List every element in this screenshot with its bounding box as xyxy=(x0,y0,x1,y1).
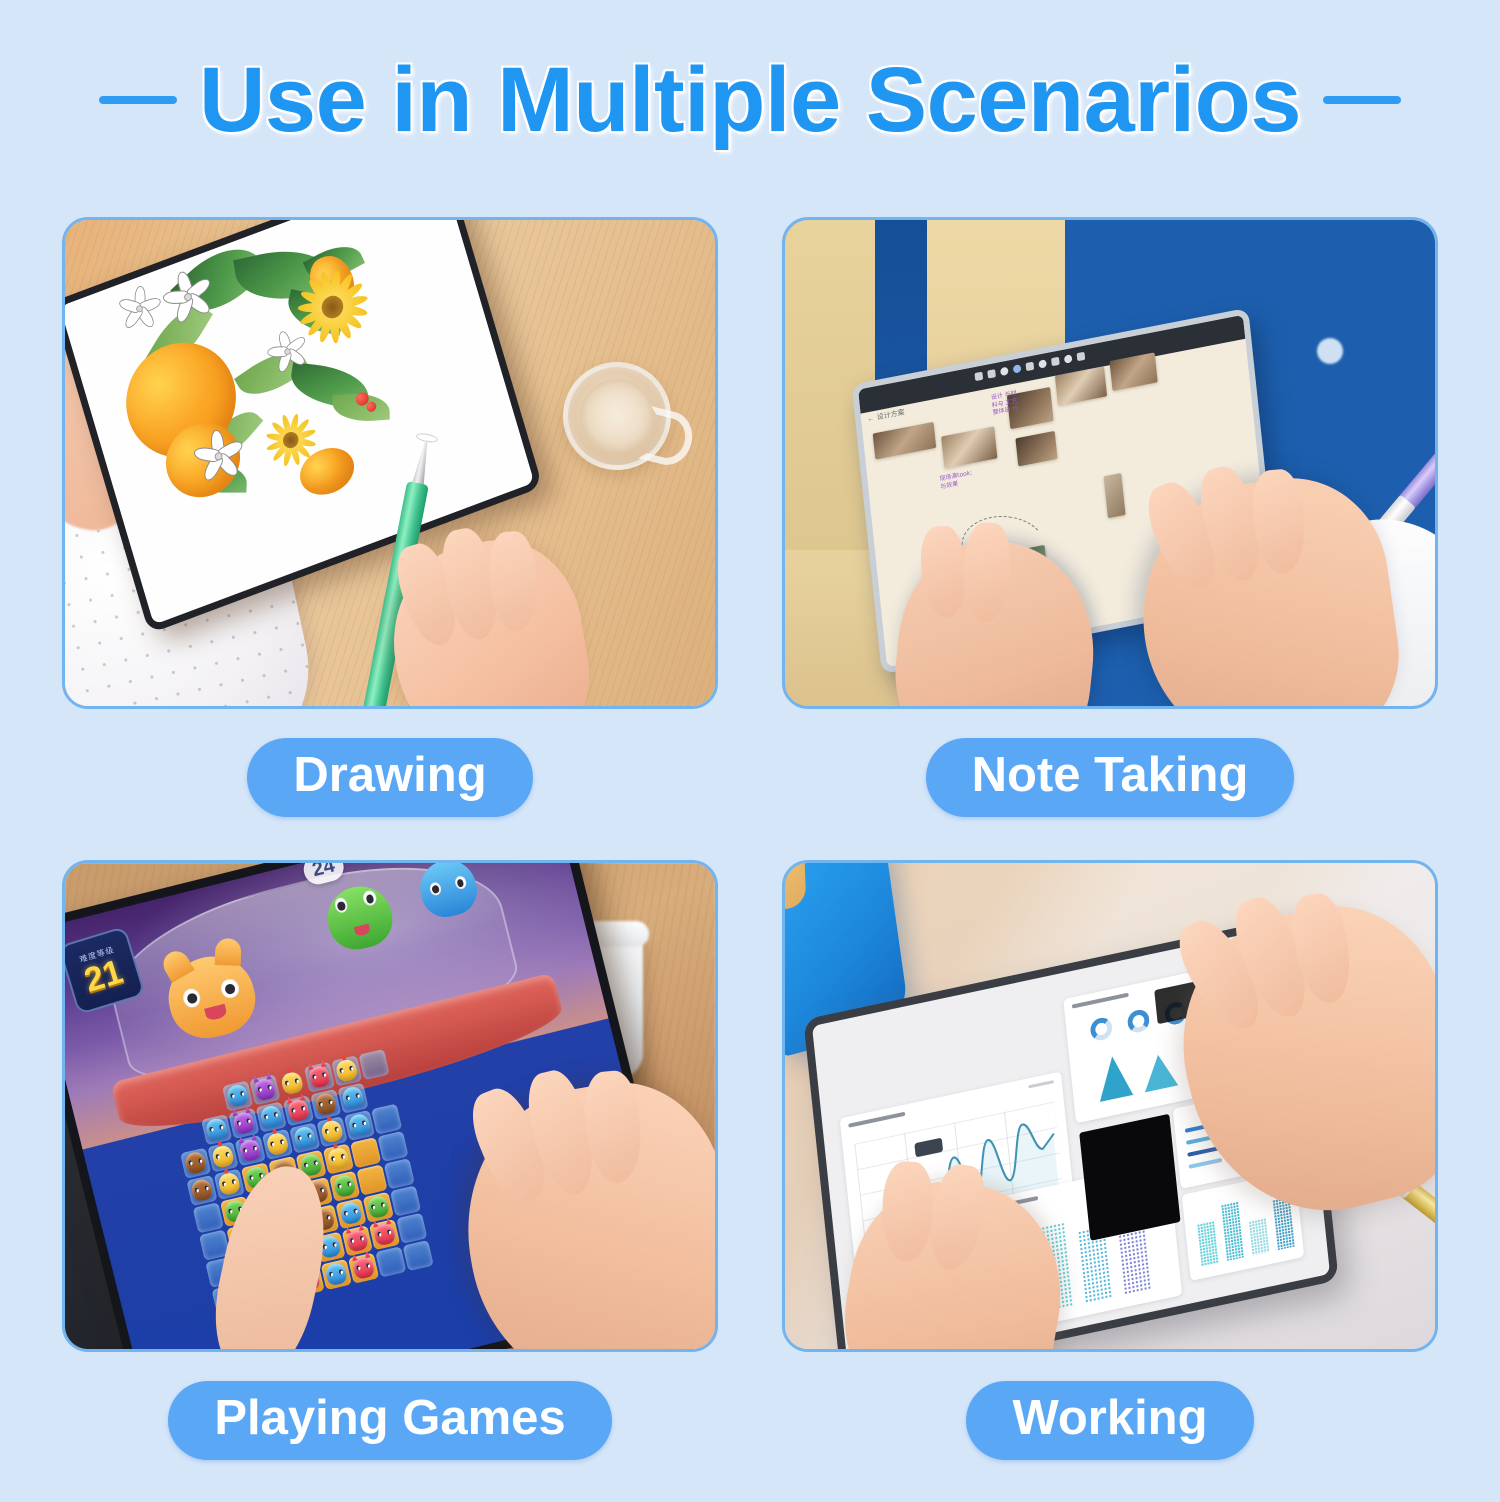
stylus-tip xyxy=(412,439,433,486)
match3-tile[interactable] xyxy=(363,1191,394,1222)
undo-icon[interactable] xyxy=(1064,354,1073,364)
coffee-foam xyxy=(580,379,654,453)
photo-thumbnail[interactable] xyxy=(1015,431,1057,467)
text-tool-icon[interactable] xyxy=(1051,357,1060,367)
chick-piece[interactable] xyxy=(280,1070,305,1095)
cat-piece[interactable] xyxy=(286,1097,311,1122)
match3-tile[interactable] xyxy=(390,1185,421,1216)
scenario-card-drawing: Drawing xyxy=(62,217,718,820)
dotted-bar xyxy=(1221,1201,1244,1261)
chick-piece[interactable] xyxy=(210,1143,235,1168)
match3-tile[interactable] xyxy=(193,1202,224,1233)
match3-tile[interactable] xyxy=(207,1141,238,1172)
pen-tool-icon[interactable] xyxy=(974,372,983,382)
match3-tile[interactable] xyxy=(342,1225,373,1256)
frog-piece[interactable] xyxy=(332,1172,357,1197)
handwritten-annotation: 现场演took;与效果 xyxy=(939,469,973,490)
match3-tile[interactable] xyxy=(371,1103,402,1134)
chick-piece[interactable] xyxy=(326,1145,351,1170)
page-title: Use in Multiple Scenarios xyxy=(199,54,1301,146)
match3-tile[interactable] xyxy=(396,1212,427,1243)
triangle-chart xyxy=(1141,1051,1178,1092)
cat-piece[interactable] xyxy=(307,1063,332,1088)
match3-tile[interactable] xyxy=(222,1080,253,1111)
label-row: Playing Games xyxy=(62,1377,718,1463)
lasso-tool-icon[interactable] xyxy=(1013,364,1022,374)
match3-tile[interactable] xyxy=(344,1110,375,1141)
match3-tile[interactable] xyxy=(403,1240,434,1271)
screen-dark-region xyxy=(1079,1114,1180,1241)
back-arrow-icon[interactable]: ← xyxy=(867,415,875,423)
label-row: Working xyxy=(782,1377,1438,1463)
scenario-label-working[interactable]: Working xyxy=(966,1381,1253,1460)
match3-tile[interactable] xyxy=(310,1089,341,1120)
purple-piece[interactable] xyxy=(231,1110,256,1135)
match3-tile[interactable] xyxy=(317,1116,348,1147)
bear-piece[interactable] xyxy=(183,1149,208,1174)
triangle-chart xyxy=(1096,1053,1134,1102)
chick-piece[interactable] xyxy=(265,1131,290,1156)
dotted-bar xyxy=(1249,1218,1270,1256)
match3-tile[interactable] xyxy=(277,1068,308,1099)
cat-piece[interactable] xyxy=(351,1254,376,1279)
match3-tile[interactable] xyxy=(356,1164,387,1195)
match3-tile[interactable] xyxy=(186,1175,217,1206)
chick-piece[interactable] xyxy=(334,1057,359,1082)
match3-tile[interactable] xyxy=(365,1076,396,1107)
dotted-bar xyxy=(1197,1221,1219,1267)
match3-tile[interactable] xyxy=(359,1049,390,1080)
dash-left-icon xyxy=(99,96,177,104)
horizontal-bar xyxy=(1189,1158,1223,1169)
match3-tile[interactable] xyxy=(323,1143,354,1174)
match3-tile[interactable] xyxy=(369,1219,400,1250)
match3-tile[interactable] xyxy=(180,1147,211,1178)
dash-right-icon xyxy=(1323,96,1401,104)
blue-piece[interactable] xyxy=(292,1124,317,1149)
scenario-label-playing-games[interactable]: Playing Games xyxy=(168,1381,611,1460)
purple-piece[interactable] xyxy=(238,1137,263,1162)
match3-tile[interactable] xyxy=(256,1101,287,1132)
more-tools-icon[interactable] xyxy=(1077,352,1086,362)
photo-thumbnail[interactable] xyxy=(873,422,937,460)
scenario-grid: Drawing xyxy=(0,212,1500,1502)
blue-piece[interactable] xyxy=(340,1084,365,1109)
blue-piece[interactable] xyxy=(259,1103,284,1128)
match3-tile[interactable] xyxy=(283,1095,314,1126)
donut-chart xyxy=(1089,1016,1113,1043)
match3-tile[interactable] xyxy=(335,1198,366,1229)
page-header: Use in Multiple Scenarios xyxy=(0,0,1500,200)
match3-tile[interactable] xyxy=(304,1061,335,1092)
match3-tile[interactable] xyxy=(350,1137,381,1168)
match3-tile[interactable] xyxy=(201,1114,232,1145)
photo-working xyxy=(782,860,1438,1352)
match3-tile[interactable] xyxy=(168,1093,199,1124)
photo-drawing xyxy=(62,217,718,709)
shape-tool-icon[interactable] xyxy=(1026,362,1035,372)
match3-tile[interactable] xyxy=(329,1170,360,1201)
frog-piece[interactable] xyxy=(366,1193,391,1218)
scenario-card-note-taking: ← 设计方案 现场演took;与效果 xyxy=(782,217,1438,820)
match3-tile[interactable] xyxy=(338,1082,369,1113)
scenario-card-working: Working xyxy=(782,860,1438,1463)
purple-piece[interactable] xyxy=(252,1076,277,1101)
blue-piece[interactable] xyxy=(324,1261,349,1286)
blue-piece[interactable] xyxy=(347,1112,372,1137)
cat-piece[interactable] xyxy=(345,1227,370,1252)
level-number: 21 xyxy=(81,954,127,998)
photo-thumbnail[interactable] xyxy=(941,426,997,468)
match3-tile[interactable] xyxy=(377,1131,408,1162)
cat-piece[interactable] xyxy=(372,1221,397,1246)
card-title-bar xyxy=(1072,993,1129,1009)
match3-tile[interactable] xyxy=(289,1122,320,1153)
match3-tile[interactable] xyxy=(321,1259,352,1290)
photo-thumbnail[interactable] xyxy=(1104,473,1126,518)
match3-tile[interactable] xyxy=(348,1252,379,1283)
chick-piece[interactable] xyxy=(319,1118,344,1143)
scenario-label-drawing[interactable]: Drawing xyxy=(247,738,532,817)
match3-tile[interactable] xyxy=(375,1246,406,1277)
match3-tile[interactable] xyxy=(214,1168,245,1199)
photo-note-taking: ← 设计方案 现场演took;与效果 xyxy=(782,217,1438,709)
blue-piece[interactable] xyxy=(204,1116,229,1141)
bear-piece[interactable] xyxy=(189,1177,214,1202)
coffee-mug xyxy=(563,362,671,470)
photo-playing-games: 难度等级 21 24 🔨 🚀 折 🐻 1 xyxy=(62,860,718,1352)
match3-tile[interactable] xyxy=(174,1120,205,1151)
scenario-label-note-taking[interactable]: Note Taking xyxy=(926,738,1295,817)
wall-dot-decor xyxy=(1317,338,1343,364)
chick-piece[interactable] xyxy=(217,1170,242,1195)
label-row: Drawing xyxy=(62,734,718,820)
match3-tile[interactable] xyxy=(249,1074,280,1105)
hand-holding-stylus xyxy=(445,1067,718,1352)
label-row: Note Taking xyxy=(782,734,1438,820)
match3-tile[interactable] xyxy=(235,1135,266,1166)
blue-piece[interactable] xyxy=(225,1082,250,1107)
highlighter-tool-icon[interactable] xyxy=(987,369,996,379)
match3-tile[interactable] xyxy=(331,1055,362,1086)
blue-piece[interactable] xyxy=(338,1200,363,1225)
match3-tile[interactable] xyxy=(262,1128,293,1159)
donut-chart xyxy=(1127,1008,1151,1035)
match3-tile[interactable] xyxy=(384,1158,415,1189)
bear-piece[interactable] xyxy=(313,1091,338,1116)
match3-tile[interactable] xyxy=(195,1086,226,1117)
eraser-tool-icon[interactable] xyxy=(1000,367,1009,377)
color-tool-icon[interactable] xyxy=(1038,359,1047,369)
match3-tile[interactable] xyxy=(228,1107,259,1138)
scenario-card-playing-games: 难度等级 21 24 🔨 🚀 折 🐻 1 xyxy=(62,860,718,1463)
